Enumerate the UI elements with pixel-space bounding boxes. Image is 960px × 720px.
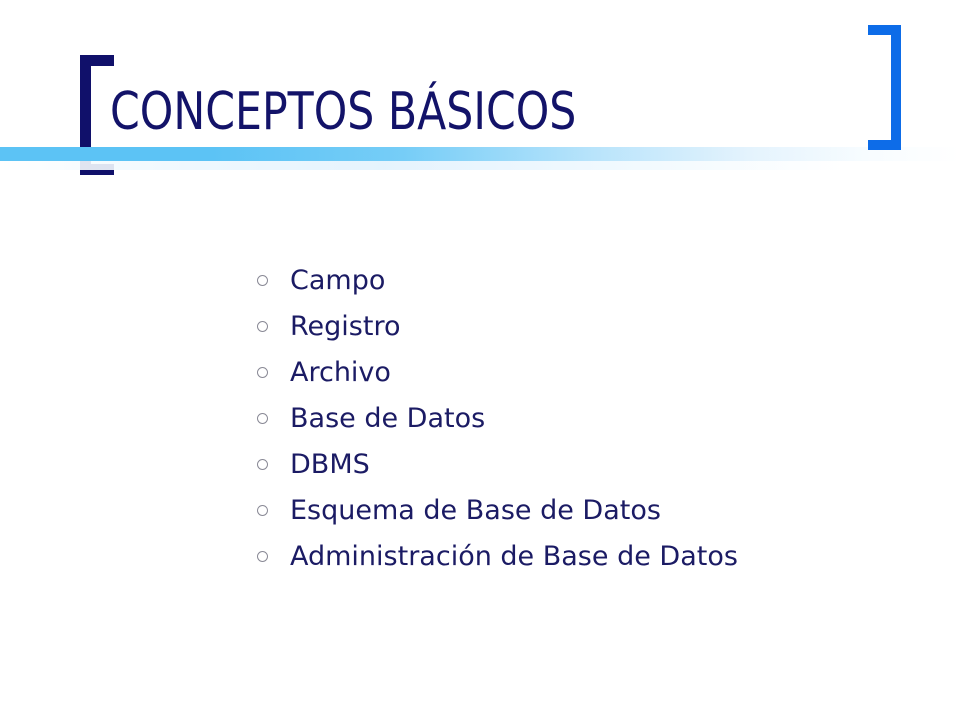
hollow-circle-bullet-icon (257, 551, 268, 562)
list-item-label: Archivo (290, 350, 391, 396)
list-item-label: Administración de Base de Datos (290, 534, 738, 580)
list-item-label: DBMS (290, 442, 370, 488)
list-item: Esquema de Base de Datos (0, 488, 960, 534)
list-item-label: Registro (290, 304, 400, 350)
title-accent-bar-fade (0, 161, 960, 170)
hollow-circle-bullet-icon (257, 367, 268, 378)
slide-title-area: CONCEPTOS BÁSICOS (0, 0, 960, 200)
page-title: CONCEPTOS BÁSICOS (110, 86, 576, 138)
list-item: Registro (0, 304, 960, 350)
list-item: Base de Datos (0, 396, 960, 442)
hollow-circle-bullet-icon (257, 321, 268, 332)
hollow-circle-bullet-icon (257, 505, 268, 516)
list-item: Archivo (0, 350, 960, 396)
list-item: DBMS (0, 442, 960, 488)
list-item: Administración de Base de Datos (0, 534, 960, 580)
hollow-circle-bullet-icon (257, 459, 268, 470)
list-item: Campo (0, 258, 960, 304)
list-item-label: Campo (290, 258, 385, 304)
hollow-circle-bullet-icon (257, 413, 268, 424)
title-accent-bar (0, 147, 960, 161)
slide-body-area: Campo Registro Archivo Base de Datos DBM… (0, 258, 960, 580)
right-bracket-decoration (868, 25, 901, 150)
hollow-circle-bullet-icon (257, 275, 268, 286)
concept-bullet-list: Campo Registro Archivo Base de Datos DBM… (0, 258, 960, 580)
presentation-slide: CONCEPTOS BÁSICOS Campo Registro Archivo… (0, 0, 960, 720)
list-item-label: Esquema de Base de Datos (290, 488, 661, 534)
list-item-label: Base de Datos (290, 396, 485, 442)
